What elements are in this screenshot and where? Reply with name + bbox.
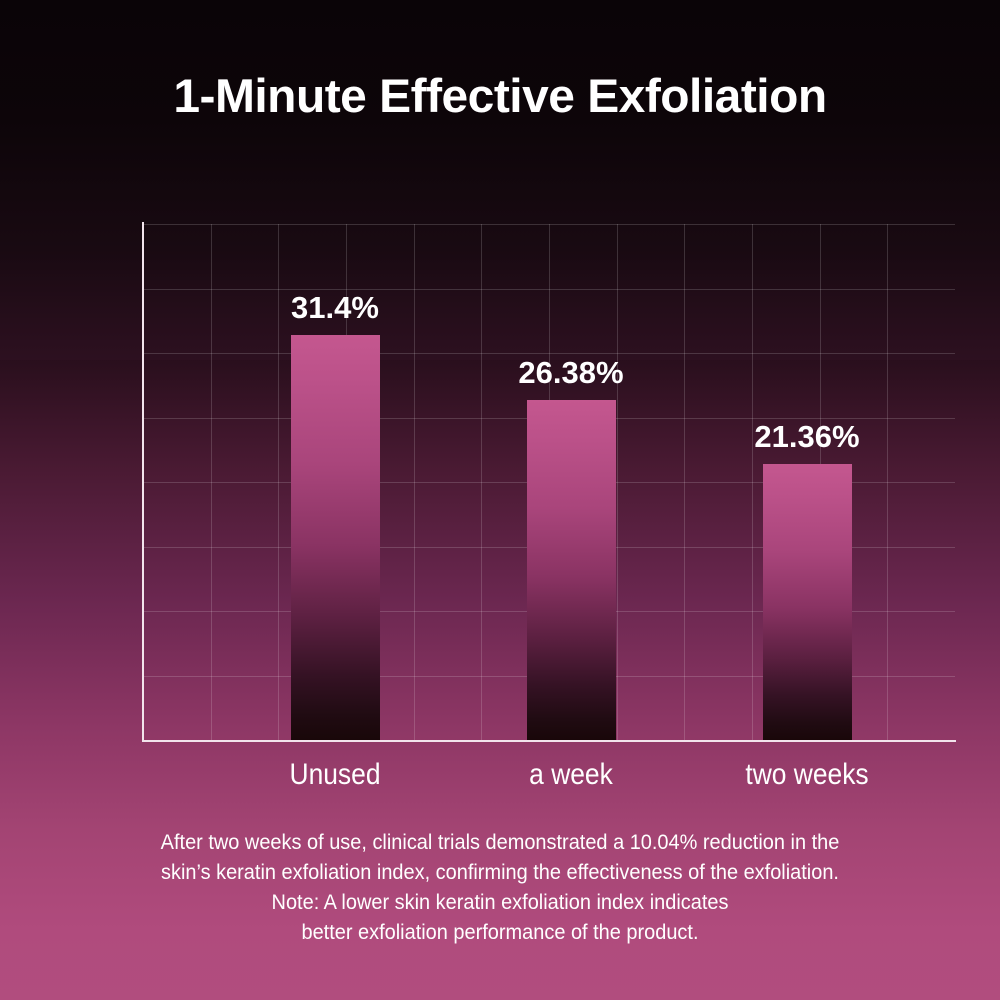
bar-value-label: 31.4% xyxy=(291,290,379,326)
gridline-vertical xyxy=(278,224,279,740)
bar xyxy=(291,335,380,740)
footnote-line: skin’s keratin exfoliation index, confir… xyxy=(73,858,928,888)
chart-poster: 1-Minute Effective Exfoliation 0.0%5.0%1… xyxy=(0,0,1000,1000)
bar xyxy=(527,400,616,740)
footnote-text: After two weeks of use, clinical trials … xyxy=(50,828,950,948)
page-title: 1-Minute Effective Exfoliation xyxy=(0,68,1000,123)
gridline-vertical xyxy=(887,224,888,740)
x-axis-category-label: two weeks xyxy=(745,758,868,792)
footnote-line: Note: A lower skin keratin exfoliation i… xyxy=(73,888,928,918)
x-axis-category-label: a week xyxy=(529,758,613,792)
gridline-vertical xyxy=(211,224,212,740)
gridline-vertical xyxy=(752,224,753,740)
footnote-line: After two weeks of use, clinical trials … xyxy=(73,828,928,858)
bar-value-label: 26.38% xyxy=(518,355,623,391)
gridline-vertical xyxy=(481,224,482,740)
gridline-vertical xyxy=(414,224,415,740)
footnote-line: better exfoliation performance of the pr… xyxy=(73,918,928,948)
bar-value-label: 21.36% xyxy=(754,419,859,455)
gridline-vertical xyxy=(617,224,618,740)
bar xyxy=(763,464,852,740)
x-axis-category-label: Unused xyxy=(290,758,381,792)
gridline-vertical xyxy=(684,224,685,740)
x-axis-line xyxy=(142,740,956,742)
y-axis-line xyxy=(142,222,144,742)
bar-chart: 0.0%5.0%10.0%15.0%20.0%25.0%30.0%35.0%40… xyxy=(143,224,955,740)
